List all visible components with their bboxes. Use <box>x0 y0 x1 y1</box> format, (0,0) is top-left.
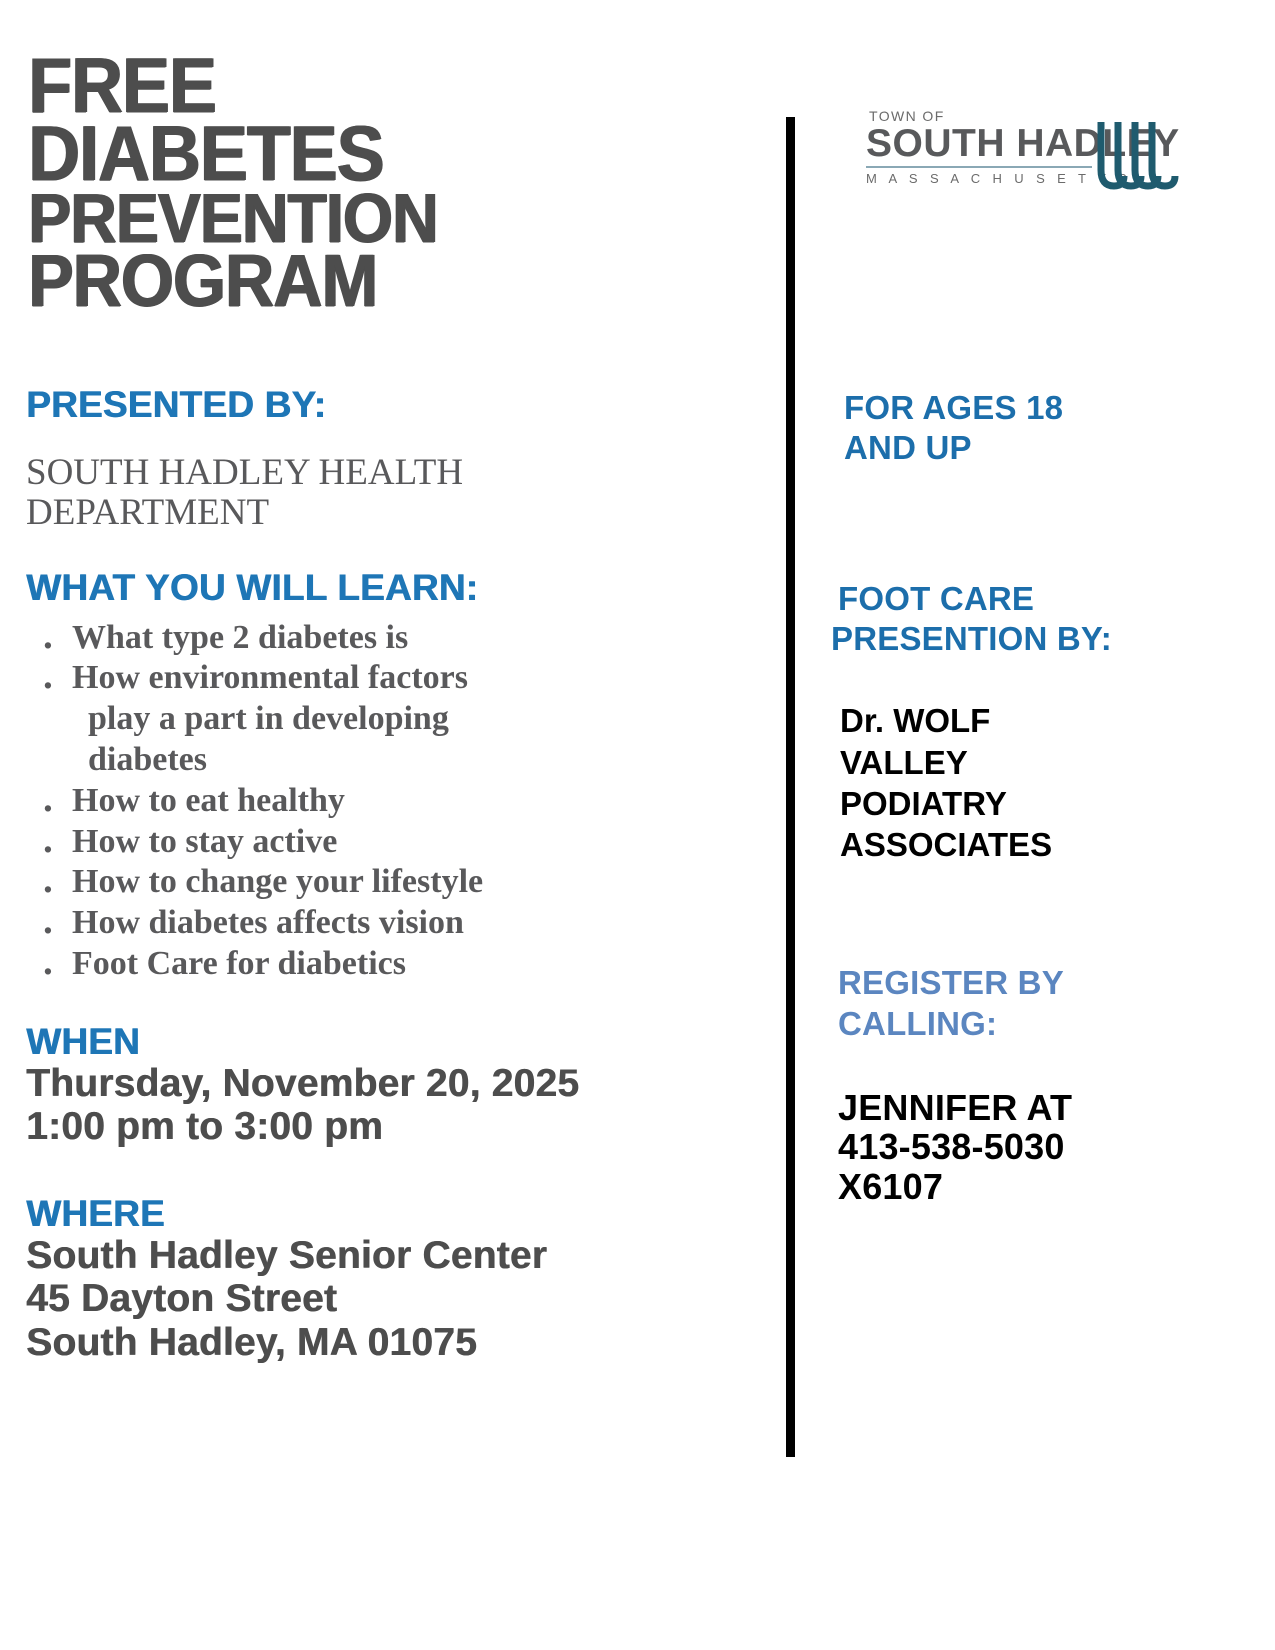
foot-care-presentation-by-label: PRESENTION BY: <box>831 619 1238 659</box>
registration-contact-block: JENNIFER AT 413-538-5030 X6107 <box>838 1088 1238 1207</box>
left-content-column: PRESENTED BY: SOUTH HADLEY HEALTH DEPART… <box>26 386 726 1365</box>
right-content-column: FOR AGES 18 AND UP FOOT CARE PRESENTION … <box>838 388 1238 1207</box>
where-street: 45 Dayton Street <box>26 1277 726 1321</box>
list-item-continuation: diabetes <box>26 740 726 781</box>
presenter-organization: SOUTH HADLEY HEALTH DEPARTMENT <box>26 453 726 533</box>
age-requirement-section: FOR AGES 18 AND UP <box>844 388 1238 467</box>
when-label: WHEN <box>26 1023 726 1062</box>
list-item: Foot Care for diabetics <box>26 944 726 985</box>
foot-care-presenter-section: FOOT CARE PRESENTION BY: <box>838 579 1238 658</box>
where-section: WHERE South Hadley Senior Center 45 Dayt… <box>26 1195 726 1365</box>
list-item: What type 2 diabetes is <box>26 618 726 659</box>
headline-line-diabetes: DIABETES <box>28 120 672 188</box>
when-section: WHEN Thursday, November 20, 2025 1:00 pm… <box>26 1023 726 1149</box>
age-requirement-line-1: FOR AGES 18 <box>844 388 1238 428</box>
doctor-name: Dr. WOLF <box>840 700 1238 741</box>
vertical-divider <box>786 117 795 1457</box>
practice-name-line-3: ASSOCIATES <box>840 824 1238 865</box>
water-waves-icon <box>1094 120 1180 194</box>
where-venue: South Hadley Senior Center <box>26 1234 726 1278</box>
headline-line-program: PROGRAM <box>28 249 672 313</box>
age-requirement-line-2: AND UP <box>844 428 1238 468</box>
podiatry-practice-block: Dr. WOLF VALLEY PODIATRY ASSOCIATES <box>840 700 1238 865</box>
practice-name-line-1: VALLEY <box>840 742 1238 783</box>
contact-phone-number: 413-538-5030 <box>838 1127 1238 1167</box>
where-label: WHERE <box>26 1195 726 1234</box>
logo-divider-rule <box>866 166 1092 168</box>
when-time: 1:00 pm to 3:00 pm <box>26 1105 726 1149</box>
list-item: How to stay active <box>26 822 726 863</box>
town-of-south-hadley-logo: TOWN OF SOUTH HADLEY M A S S A C H U S E… <box>866 108 1186 186</box>
contact-name: JENNIFER AT <box>838 1088 1238 1128</box>
presenter-line-2: DEPARTMENT <box>26 493 726 533</box>
list-item-continuation: play a part in developing <box>26 699 726 740</box>
presented-by-label: PRESENTED BY: <box>26 386 726 425</box>
list-item: How environmental factors <box>26 658 726 699</box>
presenter-line-1: SOUTH HADLEY HEALTH <box>26 453 726 493</box>
registration-section: REGISTER BY CALLING: <box>838 963 1238 1044</box>
when-date: Thursday, November 20, 2025 <box>26 1062 726 1106</box>
diabetes-prevention-flyer: FREE DIABETES PREVENTION PROGRAM TOWN OF… <box>0 0 1275 1650</box>
practice-name-line-2: PODIATRY <box>840 783 1238 824</box>
flyer-headline: FREE DIABETES PREVENTION PROGRAM <box>28 52 728 313</box>
contact-phone-extension: X6107 <box>838 1167 1238 1207</box>
register-by-label-line-1: REGISTER BY <box>838 963 1238 1003</box>
list-item: How to change your lifestyle <box>26 862 726 903</box>
register-by-label-line-2: CALLING: <box>838 1004 1238 1044</box>
list-item: How to eat healthy <box>26 781 726 822</box>
learning-objectives-list: What type 2 diabetes is How environmenta… <box>26 618 726 985</box>
list-item: How diabetes affects vision <box>26 903 726 944</box>
foot-care-label: FOOT CARE <box>838 579 1238 619</box>
where-city-state-zip: South Hadley, MA 01075 <box>26 1321 726 1365</box>
what-you-will-learn-label: WHAT YOU WILL LEARN: <box>26 569 726 608</box>
